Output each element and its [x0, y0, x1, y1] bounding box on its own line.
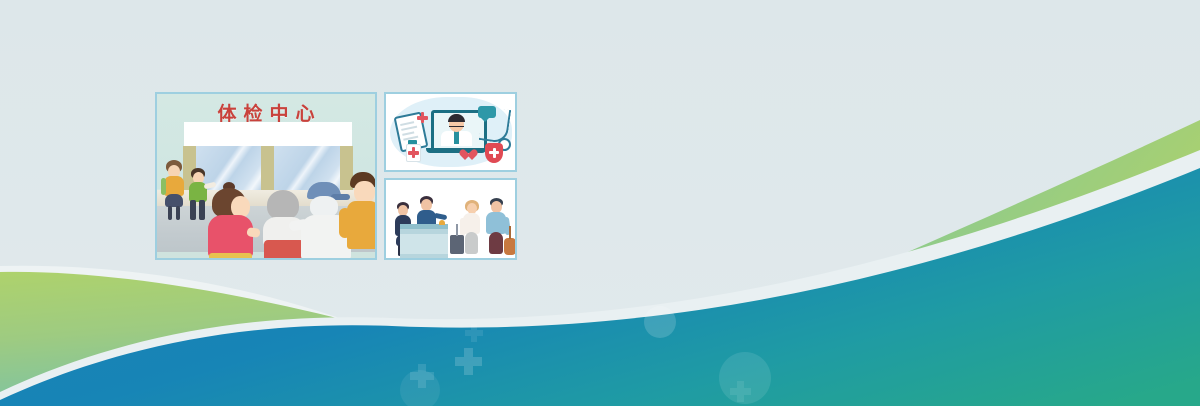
doctor-glasses-icon — [449, 121, 464, 127]
leg — [168, 206, 172, 220]
torso — [208, 215, 253, 257]
counter-bell-icon — [439, 220, 445, 225]
counter-front — [400, 234, 448, 254]
arm — [161, 178, 166, 195]
glow-dot — [719, 352, 771, 404]
suitcase — [450, 235, 464, 254]
blouse — [463, 213, 480, 234]
red-cross-icon — [408, 147, 417, 156]
lower-shirt — [264, 240, 304, 260]
reception-illustration — [386, 180, 515, 258]
torso — [347, 201, 377, 249]
arm — [246, 227, 260, 238]
belt — [209, 253, 252, 260]
trousers — [465, 232, 478, 254]
red-cross-icon — [417, 112, 428, 123]
heart-icon — [462, 150, 475, 162]
leg — [190, 200, 196, 220]
traveller-woman — [462, 200, 482, 256]
head — [354, 181, 375, 203]
image-gallery: 体检中心 — [155, 92, 517, 264]
hero-banner: 体检中心 — [0, 0, 1200, 406]
suitcase-handle — [456, 224, 458, 236]
clinic-entrance-photo[interactable]: 体检中心 — [155, 92, 377, 260]
shield-icon — [485, 143, 503, 163]
doctor-tie — [454, 131, 459, 144]
reception-desk-thumbnail[interactable] — [384, 178, 517, 260]
glow-dot — [644, 306, 676, 338]
skirt — [165, 194, 183, 207]
suitcase — [504, 238, 516, 255]
hair — [267, 190, 299, 220]
telemedicine-thumbnail[interactable] — [384, 92, 517, 172]
suitcase-handle — [509, 226, 511, 239]
clinic-illustration: 体检中心 — [157, 94, 375, 258]
leg — [176, 206, 180, 220]
clinic-sign-board — [184, 122, 352, 146]
arm — [339, 208, 351, 238]
person-staff-right — [347, 172, 377, 260]
person-foreground-pink — [203, 182, 261, 260]
trousers — [489, 232, 503, 254]
telemedicine-illustration — [386, 94, 515, 170]
torso — [164, 176, 184, 196]
arm — [460, 218, 465, 236]
